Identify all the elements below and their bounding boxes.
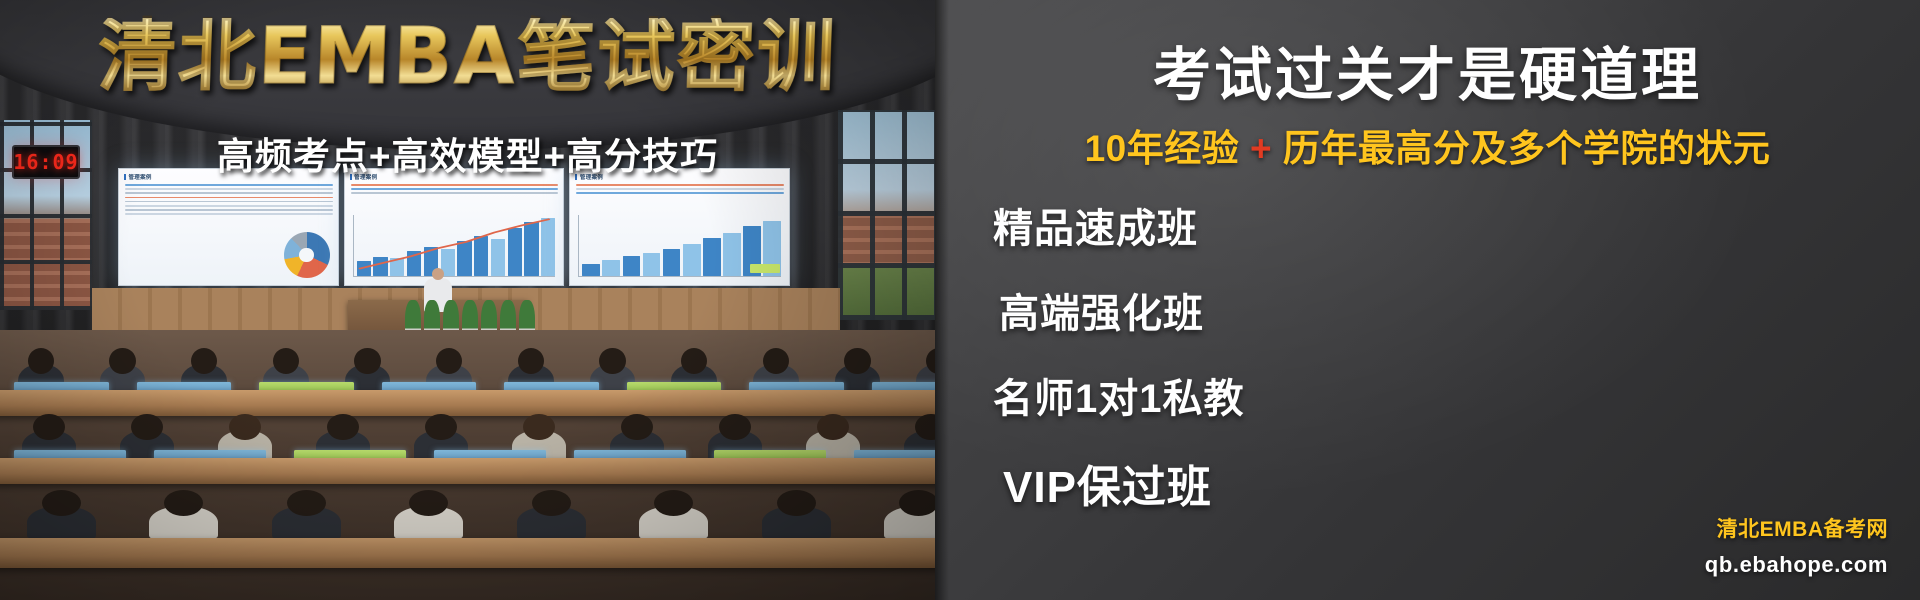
site-name-label: 清北EMBA备考网 (1705, 513, 1888, 543)
course-item-express[interactable]: 精品速成班 (993, 196, 1665, 254)
course-item-one-on-one[interactable]: 名师1对1私教 (993, 366, 1665, 424)
highlight-plus-icon: + (1250, 128, 1272, 169)
website-block: 清北EMBA备考网 qb.ebahope.com (1705, 513, 1888, 578)
site-url-label[interactable]: qb.ebahope.com (1705, 552, 1888, 578)
panel-headline: 考试过关才是硬道理 (935, 28, 1920, 112)
advertisement-banner: 16:09 管理案例 管理案例 (0, 0, 1920, 600)
classroom-photo-pane: 16:09 管理案例 管理案例 (0, 0, 935, 600)
highlight-experience: 10年经验 (1085, 128, 1240, 169)
course-item-advanced[interactable]: 高端强化班 (999, 281, 1665, 339)
hero-subtitle: 高频考点+高效模型+高分技巧 (0, 126, 935, 180)
highlight-achievement: 历年最高分及多个学院的状元 (1283, 128, 1771, 169)
info-panel: 考试过关才是硬道理 10年经验 + 历年最高分及多个学院的状元 精品速成班 高端… (935, 0, 1920, 600)
course-list: 精品速成班 高端强化班 名师1对1私教 VIP保过班 (965, 196, 1665, 542)
hero-title: 清北EMBA笔试密训 (0, 18, 935, 98)
course-item-vip[interactable]: VIP保过班 (1003, 451, 1665, 515)
panel-highlight-line: 10年经验 + 历年最高分及多个学院的状元 (935, 118, 1920, 172)
